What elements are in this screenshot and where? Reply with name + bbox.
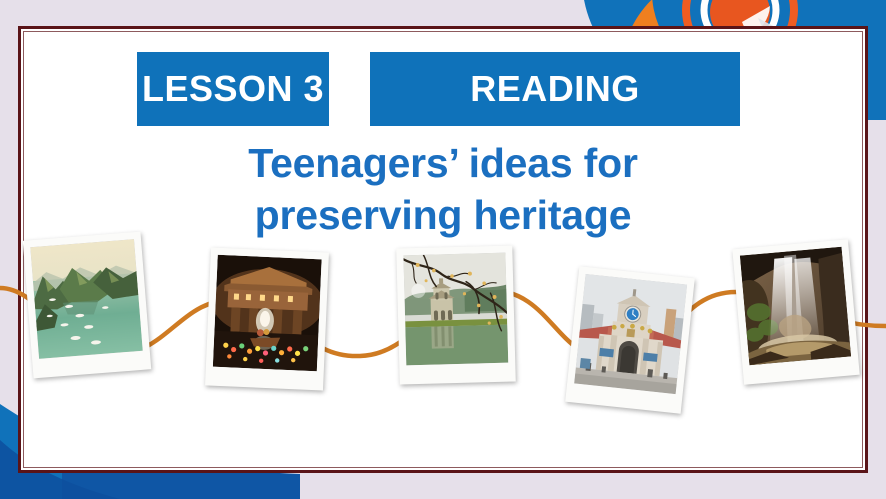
photo-card-turtle-tower[interactable] bbox=[396, 246, 516, 385]
photo-image-hoi-an-bridge bbox=[213, 255, 322, 371]
section-badge[interactable]: READING bbox=[370, 52, 740, 126]
photo-image-cave bbox=[740, 247, 851, 365]
photo-image-ha-long-bay bbox=[30, 239, 142, 359]
photo-card-cave[interactable] bbox=[732, 239, 859, 385]
lesson-badge[interactable]: LESSON 3 bbox=[137, 52, 329, 126]
section-badge-label: READING bbox=[470, 71, 640, 107]
photo-image-ben-thanh-market bbox=[574, 274, 687, 394]
page-title: Teenagers’ ideas for preserving heritage bbox=[120, 138, 766, 241]
corner-fill bbox=[700, 470, 886, 499]
photo-card-hoi-an-bridge[interactable] bbox=[205, 247, 329, 390]
slide-canvas: LESSON 3 READING Teenagers’ ideas for pr… bbox=[0, 0, 886, 499]
photo-image-turtle-tower bbox=[403, 253, 508, 366]
page-title-line-2: preserving heritage bbox=[120, 190, 766, 242]
photo-card-ben-thanh-market[interactable] bbox=[565, 266, 695, 413]
page-title-line-1: Teenagers’ ideas for bbox=[120, 138, 766, 190]
photo-card-ha-long-bay[interactable] bbox=[23, 232, 151, 379]
lesson-badge-label: LESSON 3 bbox=[142, 71, 324, 107]
